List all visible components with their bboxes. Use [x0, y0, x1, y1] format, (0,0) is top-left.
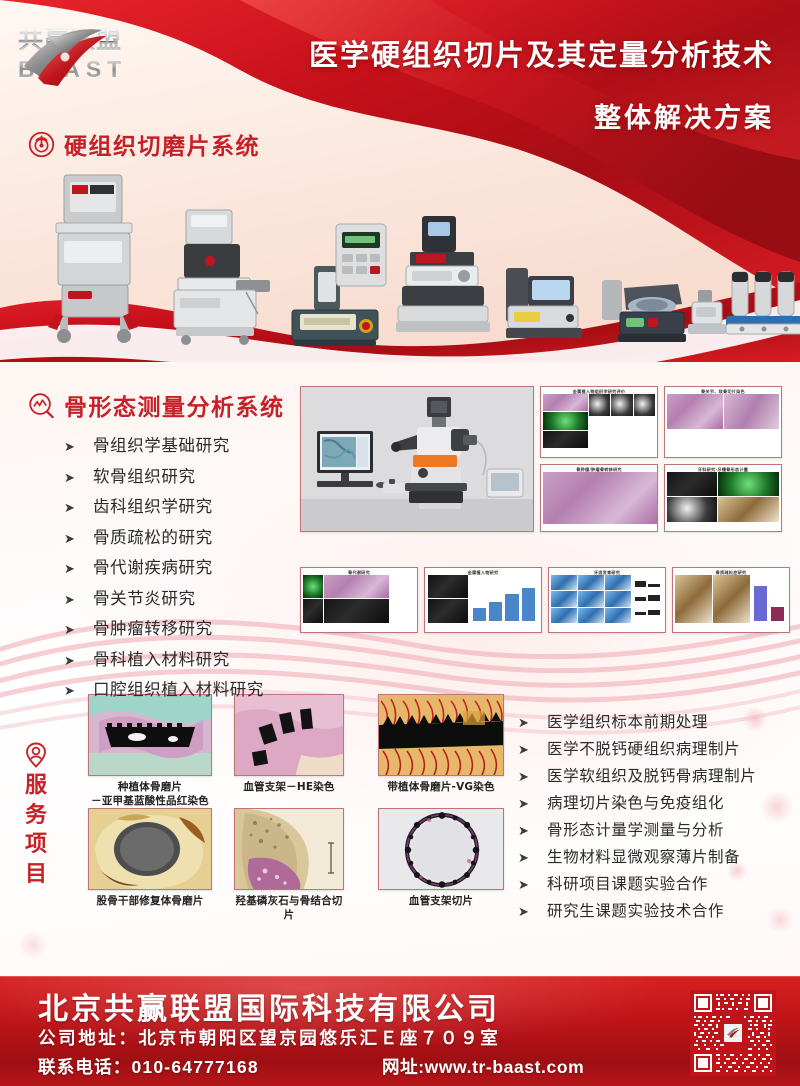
- sample-caption: 股骨干部修复体骨磨片: [88, 894, 212, 908]
- list-item-label: 骨代谢疾病研究: [93, 554, 213, 578]
- chevron-right-icon: ➤: [518, 824, 531, 839]
- equipment-polishing-machine: [600, 270, 688, 346]
- tooth-development-figure[interactable]: 牙齿发育研究: [548, 567, 666, 633]
- list-item-label: 科研项目课题实验合作: [547, 872, 708, 894]
- sample-caption: 带植体骨磨片-VG染色: [378, 780, 504, 794]
- sample-caption-line1: 带植体骨磨片-VG染色: [378, 780, 504, 794]
- dental-tissue-3d-figure[interactable]: 牙科研究-牙槽骨形态计量: [664, 464, 782, 532]
- chevron-right-icon: ➤: [518, 878, 531, 893]
- list-item[interactable]: ➤ 软骨组织研究: [64, 463, 264, 487]
- figure-caption: 骨肿瘤/肿瘤骨转移研究: [541, 465, 657, 472]
- list-item-label: 口腔组织植入材料研究: [93, 676, 264, 700]
- sample-caption-line1: 羟基磷灰石与骨结合切片: [234, 894, 344, 922]
- list-item[interactable]: ➤ 骨肿瘤转移研究: [64, 615, 264, 639]
- sample-caption-line1: 血管支架－HE染色: [234, 780, 344, 794]
- list-item[interactable]: ➤ 骨质疏松的研究: [64, 524, 264, 548]
- bone-analysis-list: ➤ 骨组织学基础研究 ➤ 软骨组织研究 ➤ 齿科组织学研究 ➤ 骨质疏松的研究 …: [64, 432, 264, 707]
- equipment-precision-saw-system: [158, 206, 274, 346]
- section-title-hard-tissue: 硬组织切磨片系统: [64, 127, 260, 161]
- figure-caption: 金属植入物研究: [425, 568, 541, 575]
- list-item-label: 医学不脱钙硬组织病理制片: [547, 737, 740, 759]
- wechat-qr-code[interactable]: [690, 990, 776, 1076]
- list-item[interactable]: ➤ 医学组织标本前期处理: [518, 710, 756, 732]
- sample-caption-line1: 种植体骨磨片: [88, 780, 212, 794]
- implant-bone-vg-slide[interactable]: 带植体骨磨片-VG染色: [378, 694, 504, 794]
- list-item[interactable]: ➤ 骨组织学基础研究: [64, 432, 264, 456]
- list-item-label: 骨关节炎研究: [93, 585, 196, 609]
- sample-caption: 血管支架切片: [378, 894, 504, 908]
- list-item-label: 医学软组织及脱钙骨病理制片: [547, 764, 756, 786]
- figure-caption: 骨关节、软骨切片染色: [665, 387, 781, 394]
- figure-caption: 牙科研究-牙槽骨形态计量: [665, 465, 781, 472]
- list-item-label: 齿科组织学研究: [93, 493, 213, 517]
- list-item-label: 骨组织学基础研究: [93, 432, 230, 456]
- list-item[interactable]: ➤ 科研项目课题实验合作: [518, 872, 756, 894]
- bokeh-dot: [760, 790, 794, 824]
- chevron-right-icon: ➤: [64, 654, 77, 669]
- chevron-right-icon: ➤: [64, 501, 77, 516]
- list-item[interactable]: ➤ 医学不脱钙硬组织病理制片: [518, 737, 756, 759]
- equipment-section-press: [502, 262, 586, 344]
- chevron-right-icon: ➤: [518, 797, 531, 812]
- list-item-label: 生物材料显微观察薄片制备: [547, 845, 740, 867]
- hydroxyapatite-bone-slide[interactable]: 羟基磷灰石与骨结合切片: [234, 808, 344, 922]
- list-item[interactable]: ➤ 骨形态计量学测量与分析: [518, 818, 756, 840]
- poster-title-sub: 整体解决方案: [309, 96, 774, 135]
- sample-caption: 种植体骨磨片 －亚甲基蓝酸性品红染色: [88, 780, 212, 808]
- target-sensor-icon: [28, 131, 55, 158]
- chevron-right-icon: ➤: [518, 851, 531, 866]
- chevron-right-icon: ➤: [518, 905, 531, 920]
- metal-implant-research-figure[interactable]: 金属植入物研究: [424, 567, 542, 633]
- bone-metabolism-figure[interactable]: 骨代谢研究: [300, 567, 418, 633]
- baast-eagle-logo-icon: [18, 20, 110, 86]
- bone-tumor-metastasis-figure[interactable]: 骨肿瘤/肿瘤骨转移研究: [540, 464, 658, 532]
- bokeh-dot: [18, 930, 48, 960]
- chevron-right-icon: ➤: [64, 684, 77, 699]
- vascular-stent-he-slide[interactable]: 血管支架－HE染色: [234, 694, 344, 794]
- service-label-char: 务: [25, 803, 47, 828]
- sample-caption-line1: 股骨干部修复体骨磨片: [88, 894, 212, 908]
- chevron-right-icon: ➤: [64, 623, 77, 638]
- equipment-microtome-unit: [392, 214, 492, 344]
- list-item[interactable]: ➤ 研究生课题实验技术合作: [518, 899, 756, 921]
- equipment-row: [10, 168, 800, 358]
- list-item-label: 骨形态计量学测量与分析: [547, 818, 724, 840]
- equipment-control-unit: [332, 222, 390, 292]
- service-label-char: 目: [25, 862, 47, 887]
- list-item[interactable]: ➤ 齿科组织学研究: [64, 493, 264, 517]
- list-item-label: 研究生课题实验技术合作: [547, 899, 724, 921]
- brand-logo: 共赢联盟 BAAST: [18, 20, 127, 81]
- poster-title-main: 医学硬组织切片及其定量分析技术: [309, 32, 774, 74]
- chevron-right-icon: ➤: [64, 471, 77, 486]
- figure-caption: 金属植入物组织学研究评价: [541, 387, 657, 394]
- figure-caption: 骨质疏松症研究: [673, 568, 789, 575]
- chevron-right-icon: ➤: [518, 716, 531, 731]
- footer-phone: 联系电话：010-64777168: [38, 1054, 259, 1079]
- bokeh-dot: [766, 906, 794, 934]
- chevron-right-icon: ➤: [518, 743, 531, 758]
- chevron-right-icon: ➤: [64, 562, 77, 577]
- list-item-label: 软骨组织研究: [93, 463, 196, 487]
- footer-bar: 北京共赢联盟国际科技有限公司 公司地址：北京市朝阳区望京园悠乐汇Ｅ座７０９室 联…: [0, 976, 800, 1086]
- chevron-right-icon: ➤: [518, 770, 531, 785]
- joint-cartilage-section-figure[interactable]: 骨关节、软骨切片染色: [664, 386, 782, 458]
- chevron-right-icon: ➤: [64, 593, 77, 608]
- list-item-label: 骨科植入材料研究: [93, 646, 230, 670]
- service-label-char: 项: [25, 832, 47, 857]
- microscope-system-photo[interactable]: [300, 386, 534, 532]
- service-label-char: 服: [25, 773, 47, 798]
- section-title-bone-analysis: 骨形态测量分析系统: [64, 388, 285, 422]
- vascular-stent-section-slide[interactable]: 血管支架切片: [378, 808, 504, 908]
- chevron-right-icon: ➤: [64, 440, 77, 455]
- list-item-label: 骨质疏松的研究: [93, 524, 213, 548]
- service-section-label: 服 务 项 目: [24, 742, 48, 887]
- footer-company-name: 北京共赢联盟国际科技有限公司: [38, 984, 500, 1028]
- bone-analysis-chart-icon: [28, 392, 55, 419]
- footer-address: 公司地址：北京市朝阳区望京园悠乐汇Ｅ座７０９室: [38, 1025, 500, 1050]
- chevron-right-icon: ➤: [64, 532, 77, 547]
- list-item-label: 骨肿瘤转移研究: [93, 615, 213, 639]
- service-person-icon: [24, 742, 48, 768]
- section-heading-bone-analysis: 骨形态测量分析系统: [28, 388, 285, 422]
- sample-caption: 羟基磷灰石与骨结合切片: [234, 894, 344, 922]
- osteoporosis-research-figure[interactable]: 骨质疏松症研究: [672, 567, 790, 633]
- list-item-label: 病理切片染色与免疫组化: [547, 791, 724, 813]
- equipment-bench-cutting-system: [38, 173, 148, 348]
- poster-title-block: 医学硬组织切片及其定量分析技术 整体解决方案: [309, 32, 774, 135]
- list-item[interactable]: ➤ 骨关节炎研究: [64, 585, 264, 609]
- figure-caption: 骨代谢研究: [301, 568, 417, 575]
- sample-caption: 血管支架－HE染色: [234, 780, 344, 794]
- figure-caption: 牙齿发育研究: [549, 568, 665, 575]
- list-item[interactable]: ➤ 病理切片染色与免疫组化: [518, 791, 756, 813]
- metal-implant-histology-figure[interactable]: 金属植入物组织学研究评价: [540, 386, 658, 458]
- service-items-list: ➤ 医学组织标本前期处理 ➤ 医学不脱钙硬组织病理制片 ➤ 医学软组织及脱钙骨病…: [518, 710, 756, 926]
- list-item-label: 医学组织标本前期处理: [547, 710, 708, 732]
- equipment-tube-rotator-mixer: [722, 264, 800, 342]
- femoral-shaft-repair-slide[interactable]: 股骨干部修复体骨磨片: [88, 808, 212, 908]
- list-item[interactable]: ➤ 骨代谢疾病研究: [64, 554, 264, 578]
- section-heading-hard-tissue: 硬组织切磨片系统: [28, 127, 260, 161]
- list-item[interactable]: ➤ 骨科植入材料研究: [64, 646, 264, 670]
- sample-caption-line2: －亚甲基蓝酸性品红染色: [88, 794, 212, 808]
- poster-root: 共赢联盟 BAAST 医学硬组织切片及其定量分析技术 整体解决方案 硬组织切磨片…: [0, 0, 800, 1086]
- list-item[interactable]: ➤ 生物材料显微观察薄片制备: [518, 845, 756, 867]
- list-item[interactable]: ➤ 医学软组织及脱钙骨病理制片: [518, 764, 756, 786]
- footer-website[interactable]: 网址:www.tr-baast.com: [382, 1054, 584, 1079]
- implant-bone-grinding-slide[interactable]: 种植体骨磨片 －亚甲基蓝酸性品红染色: [88, 694, 212, 808]
- sample-caption-line1: 血管支架切片: [378, 894, 504, 908]
- list-item[interactable]: ➤ 口腔组织植入材料研究: [64, 676, 264, 700]
